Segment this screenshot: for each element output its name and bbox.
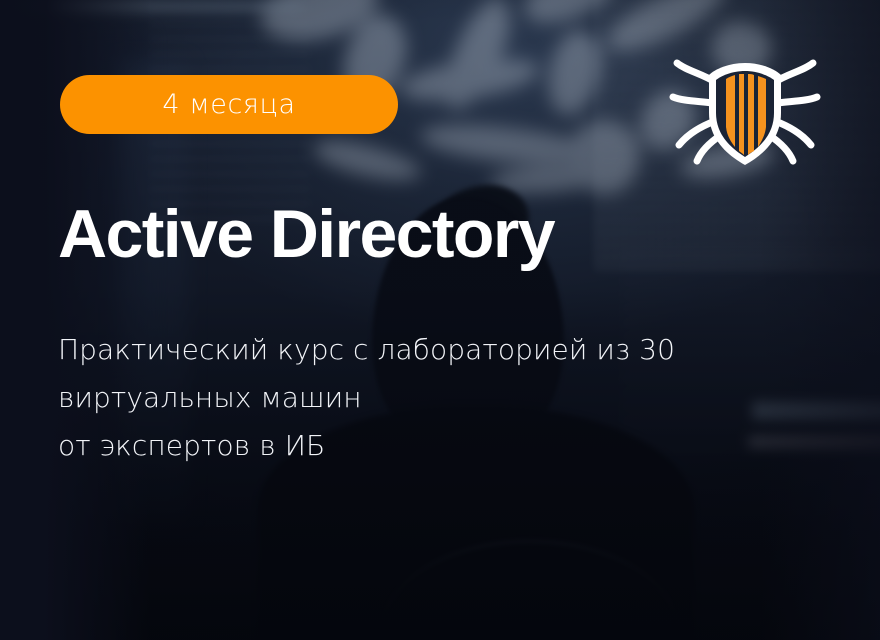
course-promo-banner: 4 месяца Active Directory Практический к… xyxy=(0,0,880,640)
subtitle-line-3: от экспертов в ИБ xyxy=(58,422,818,470)
duration-badge-label: 4 месяца xyxy=(162,91,295,118)
duration-badge: 4 месяца xyxy=(60,75,398,134)
banner-content: 4 месяца Active Directory Практический к… xyxy=(0,0,880,640)
subtitle: Практический курс с лабораторией из 30 в… xyxy=(58,326,818,470)
subtitle-line-1: Практический курс с лабораторией из 30 xyxy=(58,326,818,374)
beetle-shield-logo xyxy=(669,47,821,173)
subtitle-line-2: виртуальных машин xyxy=(58,374,818,422)
page-title: Active Directory xyxy=(58,200,554,268)
